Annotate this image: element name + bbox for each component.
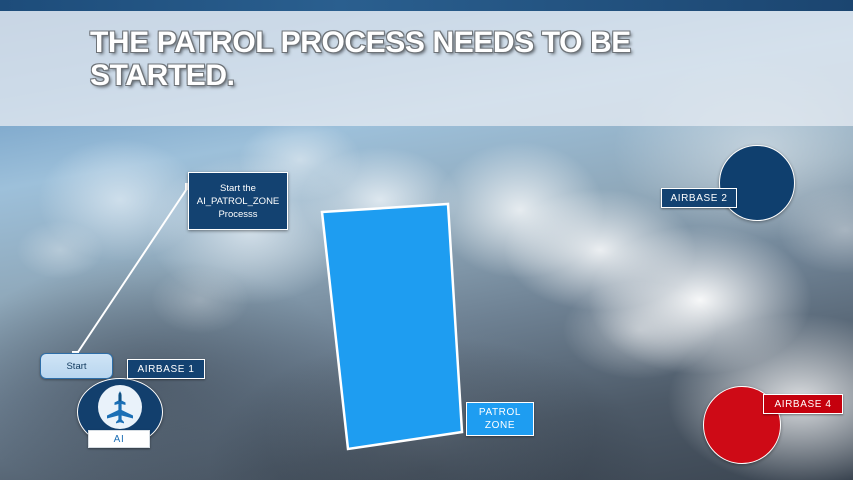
ai-unit-label-text: AI: [114, 434, 125, 445]
airbase-2-label-text: AIRBASE 2: [670, 193, 727, 204]
airbase-2-label[interactable]: AIRBASE 2: [661, 188, 737, 208]
process-box-line-3: Processs: [218, 208, 257, 221]
airbase-4-label-text: AIRBASE 4: [774, 399, 831, 410]
process-box-line-1: Start the: [220, 182, 256, 195]
patrol-zone-label-line-2: ZONE: [485, 419, 515, 432]
patrol-zone-label-line-1: PATROL: [479, 406, 521, 419]
ai-unit-label[interactable]: AI: [88, 430, 150, 448]
airbase-1-label-text: AIRBASE 1: [137, 364, 194, 375]
airbase-1-label[interactable]: AIRBASE 1: [127, 359, 205, 379]
start-button[interactable]: Start: [40, 353, 113, 379]
start-button-label: Start: [66, 361, 86, 372]
process-box-line-2: AI_PATROL_ZONE: [197, 195, 280, 208]
airbase-4-label[interactable]: AIRBASE 4: [763, 394, 843, 414]
slide-canvas: THE PATROL PROCESS NEEDS TO BE STARTED. …: [0, 0, 853, 480]
airbase-2-marker[interactable]: [719, 145, 795, 221]
fighter-jet-icon: [98, 385, 142, 429]
patrol-zone-label[interactable]: PATROL ZONE: [466, 402, 534, 436]
process-box[interactable]: Start the AI_PATROL_ZONE Processs: [188, 172, 288, 230]
